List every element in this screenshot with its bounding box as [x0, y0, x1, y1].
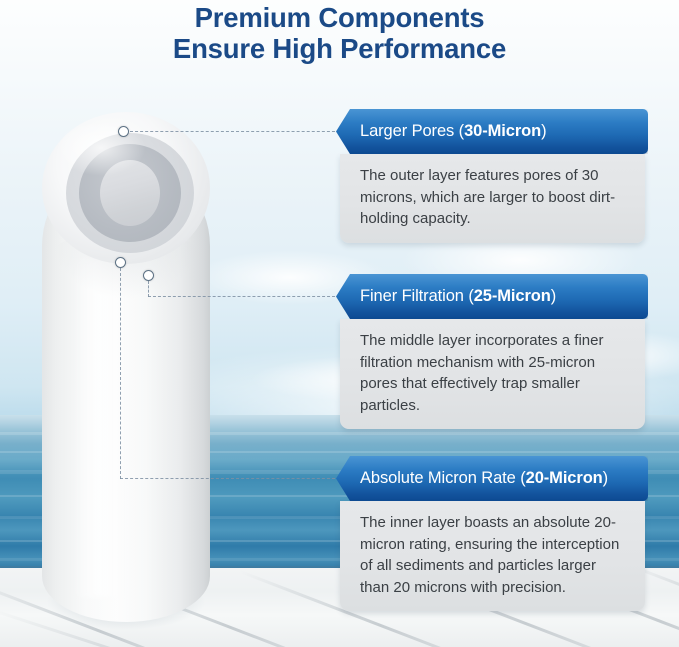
- heading-value-1: 30-Micron: [464, 122, 541, 140]
- callout-header-3: Absolute Micron Rate (20-Micron): [336, 456, 648, 501]
- callout-header-1: Larger Pores (30-Micron): [336, 109, 648, 154]
- callout-heading-3: Absolute Micron Rate (20-Micron): [336, 469, 608, 488]
- title-line-1: Premium Components: [0, 2, 679, 33]
- heading-prefix-2: Finer Filtration (: [360, 287, 474, 305]
- cap-highlight: [56, 120, 146, 176]
- heading-value-3: 20-Micron: [526, 469, 603, 487]
- callout-header-2: Finer Filtration (25-Micron): [336, 274, 648, 319]
- callout-heading-2: Finer Filtration (25-Micron): [336, 287, 556, 306]
- leader-line-3-vertical: [120, 268, 121, 479]
- filter-cartridge: [38, 108, 214, 624]
- callout-finer-filtration[interactable]: Finer Filtration (25-Micron) The middle …: [336, 274, 648, 429]
- callout-absolute-micron-rate[interactable]: Absolute Micron Rate (20-Micron) The inn…: [336, 456, 648, 611]
- callout-body-3: The inner layer boasts an absolute 20-mi…: [340, 501, 645, 611]
- leader-line-1: [130, 131, 340, 132]
- leader-line-3: [120, 478, 340, 479]
- callout-heading-1: Larger Pores (30-Micron): [336, 122, 547, 141]
- callout-anchor-dot-1: [118, 126, 129, 137]
- heading-suffix-1: ): [541, 122, 546, 140]
- heading-suffix-2: ): [551, 287, 556, 305]
- heading-suffix-3: ): [603, 469, 608, 487]
- callout-anchor-dot-2: [143, 270, 154, 281]
- leader-line-2: [148, 296, 340, 297]
- heading-prefix-3: Absolute Micron Rate (: [360, 469, 526, 487]
- callout-body-2: The middle layer incorporates a finer fi…: [340, 319, 645, 429]
- callout-body-1: The outer layer features pores of 30 mic…: [340, 154, 645, 243]
- infographic-canvas: Premium Components Ensure High Performan…: [0, 0, 679, 647]
- heading-prefix-1: Larger Pores (: [360, 122, 464, 140]
- leader-line-2-vertical: [148, 281, 149, 297]
- callout-larger-pores[interactable]: Larger Pores (30-Micron) The outer layer…: [336, 109, 648, 243]
- heading-value-2: 25-Micron: [474, 287, 551, 305]
- filter-highlight: [72, 258, 126, 598]
- title-line-2: Ensure High Performance: [0, 33, 679, 64]
- page-title: Premium Components Ensure High Performan…: [0, 2, 679, 64]
- callout-anchor-dot-3: [115, 257, 126, 268]
